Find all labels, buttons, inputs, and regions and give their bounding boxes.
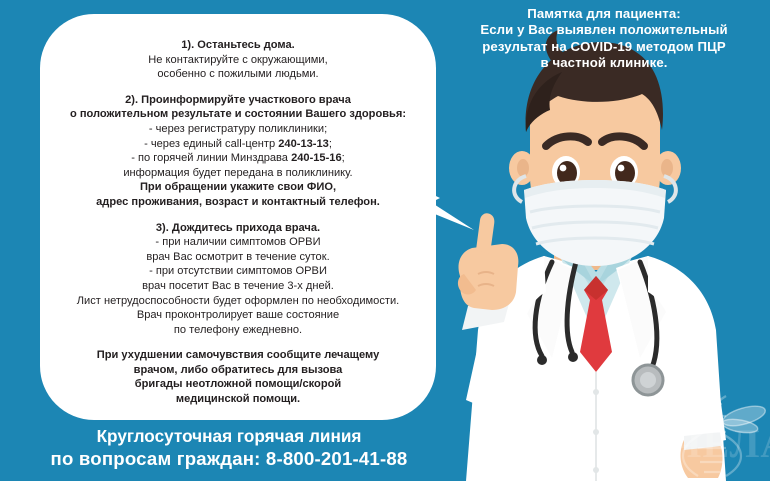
- hotline-line-2: по вопросам граждан: 8-800-201-41-88: [14, 447, 444, 470]
- section2-note: информация будет передана в поликлинику.: [58, 166, 418, 181]
- section2-bullet-3: - по горячей линии Минздрава 240-15-16;: [58, 151, 418, 166]
- section2-bold-line-2: адрес проживания, возраст и контактный т…: [58, 195, 418, 210]
- header-line-4: в частной клинике.: [440, 55, 768, 71]
- section3-title: 3). Дождитесь прихода врача.: [58, 221, 418, 236]
- section1-line-2: особенно с пожилыми людьми.: [58, 67, 418, 82]
- section1-title: 1). Останьтесь дома.: [58, 38, 418, 53]
- header-line-3: результат на COVID-19 методом ПЦР: [440, 39, 768, 55]
- section2-bullet-2: - через единый call-центр 240-13-13;: [58, 137, 418, 152]
- section3-line-7: по телефону ежедневно.: [58, 323, 418, 338]
- section3-line-1: - при наличии симптомов ОРВИ: [58, 235, 418, 250]
- section3-line-3: - при отсутствии симптомов ОРВИ: [58, 264, 418, 279]
- section2-bullet-3-text: - по горячей линии Минздрава: [131, 152, 291, 164]
- section4-line-4: медицинской помощи.: [58, 392, 418, 407]
- section3-line-4: врач посетит Вас в течение 3-х дней.: [58, 279, 418, 294]
- section2-bullet-1: - через регистратуру поликлиники;: [58, 122, 418, 137]
- section2-bold-line-1: При обращении укажите свои ФИО,: [58, 180, 418, 195]
- header-line-2: Если у Вас выявлен положительный: [440, 22, 768, 38]
- header-line-1: Памятка для пациента:: [440, 6, 768, 22]
- minzdrav-hotline-phone: 240-15-16: [291, 152, 342, 164]
- section3-line-5: Лист нетрудоспособности будет оформлен п…: [58, 294, 418, 309]
- section3-line-6: Врач проконтролирует ваше состояние: [58, 308, 418, 323]
- hotline-line-1: Круглосуточная горячая линия: [14, 426, 444, 447]
- poster-canvas: 1). Останьтесь дома. Не контактируйте с …: [0, 0, 770, 481]
- section2-title-line-2: о положительном результате и состоянии В…: [58, 107, 418, 122]
- section4-line-1: При ухудшении самочувствия сообщите леча…: [58, 348, 418, 363]
- section2-title-line-1: 2). Проинформируйте участкового врача: [58, 93, 418, 108]
- section3-line-2: врач Вас осмотрит в течение суток.: [58, 250, 418, 265]
- instructions-card: 1). Останьтесь дома. Не контактируйте с …: [40, 14, 436, 420]
- section4-line-2: врачом, либо обратитесь для вызова: [58, 363, 418, 378]
- header-title: Памятка для пациента: Если у Вас выявлен…: [440, 6, 768, 72]
- hotline-banner: Круглосуточная горячая линия по вопросам…: [14, 426, 444, 470]
- call-center-phone: 240-13-13: [278, 138, 329, 150]
- section2-bullet-2-text: - через единый call-центр: [144, 138, 278, 150]
- section2-bullet-2-suffix: ;: [329, 138, 332, 150]
- section1-line-1: Не контактируйте с окружающими,: [58, 53, 418, 68]
- section4-line-3: бригады неотложной помощи/скорой: [58, 377, 418, 392]
- section2-bullet-3-suffix: ;: [342, 152, 345, 164]
- instructions-content: 1). Останьтесь дома. Не контактируйте с …: [40, 14, 436, 420]
- doctor-illustration: [426, 0, 770, 481]
